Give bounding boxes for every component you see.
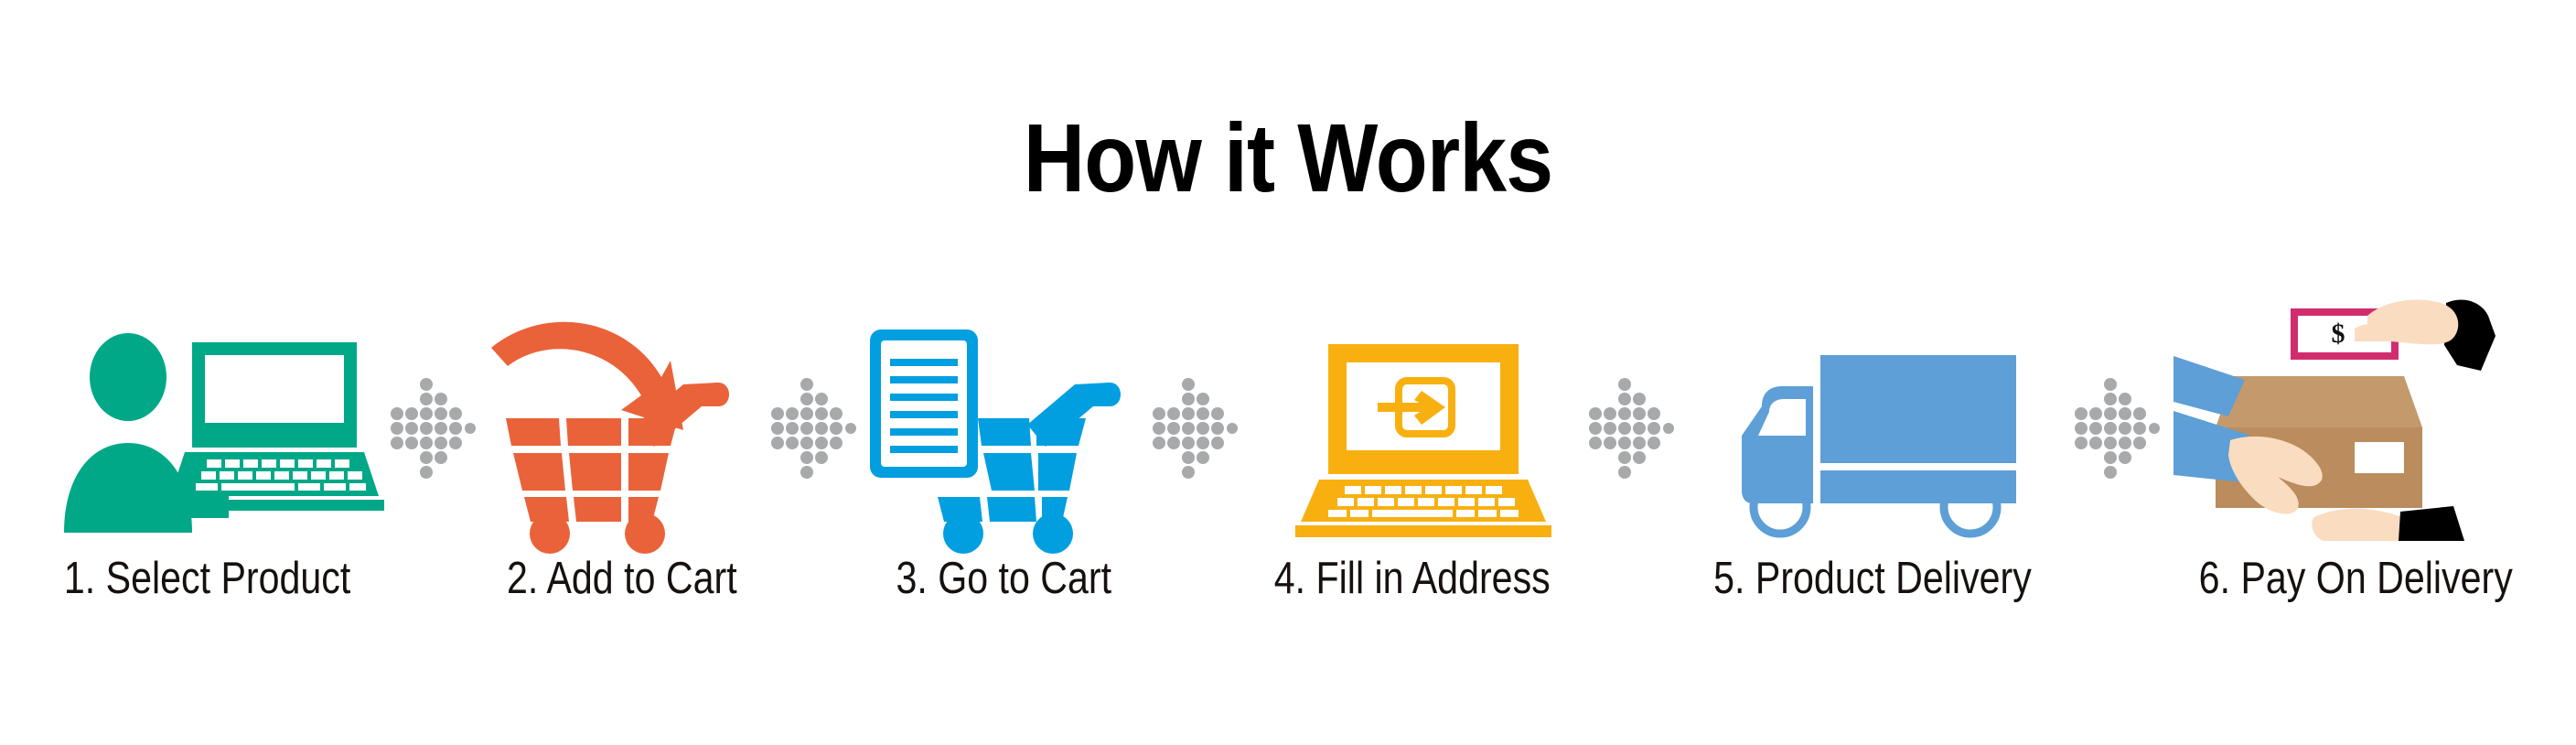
step-2-add-to-cart[interactable]: 2. Add to Cart	[485, 293, 759, 659]
step-1-label: 1. Select Product	[64, 555, 350, 602]
page-title: How it Works	[155, 108, 2421, 209]
separator-2	[763, 293, 862, 540]
dotted-arrow-right-icon	[1150, 375, 1238, 458]
dotted-arrow-right-icon	[388, 375, 476, 458]
dotted-arrow-right-icon	[1586, 375, 1674, 458]
box-shipping-label	[2355, 442, 2404, 473]
step-2-label: 2. Add to Cart	[507, 555, 737, 602]
separator-3	[1144, 293, 1243, 540]
step-3-artwork	[866, 293, 1141, 540]
steps-strip: 1. Select Product	[37, 293, 2543, 659]
dotted-arrow-right-icon	[768, 375, 856, 458]
step-2-artwork	[488, 293, 757, 540]
shopping-cart-with-curved-arrow-icon	[488, 311, 757, 540]
delivery-truck-icon	[1722, 348, 2023, 540]
infographic-page: How it Works	[0, 0, 2576, 745]
black-sleeve-bottom	[2399, 506, 2464, 541]
hands-exchanging-box-and-cash-icon: $	[2173, 288, 2539, 540]
banknote-dollar-symbol: $	[2331, 319, 2345, 349]
step-1-artwork	[57, 293, 359, 540]
step-1-select-product[interactable]: 1. Select Product	[37, 293, 378, 659]
step-3-go-to-cart[interactable]: 3. Go to Cart	[866, 293, 1141, 659]
step-6-artwork: $	[2173, 293, 2539, 540]
separator-1	[382, 293, 481, 540]
step-4-artwork	[1275, 293, 1550, 540]
separator-5	[2066, 293, 2165, 540]
document-with-shopping-cart-icon	[866, 311, 1141, 540]
step-5-label: 5. Product Delivery	[1714, 555, 2033, 602]
step-5-artwork	[1722, 293, 2023, 540]
dotted-arrow-right-icon	[2072, 375, 2160, 458]
laptop-with-login-arrow-icon	[1275, 339, 1550, 540]
separator-4	[1581, 293, 1680, 540]
step-5-product-delivery[interactable]: 5. Product Delivery	[1683, 293, 2062, 659]
step-6-label: 6. Pay On Delivery	[2199, 555, 2513, 602]
box-top-face	[2216, 376, 2422, 427]
step-3-label: 3. Go to Cart	[896, 555, 1111, 602]
person-with-laptop-icon	[57, 329, 359, 540]
step-4-fill-in-address[interactable]: 4. Fill in Address	[1248, 293, 1577, 659]
step-4-label: 4. Fill in Address	[1274, 555, 1551, 602]
step-6-pay-on-delivery[interactable]: $	[2169, 293, 2543, 659]
hand-receiving-box	[2312, 509, 2410, 541]
